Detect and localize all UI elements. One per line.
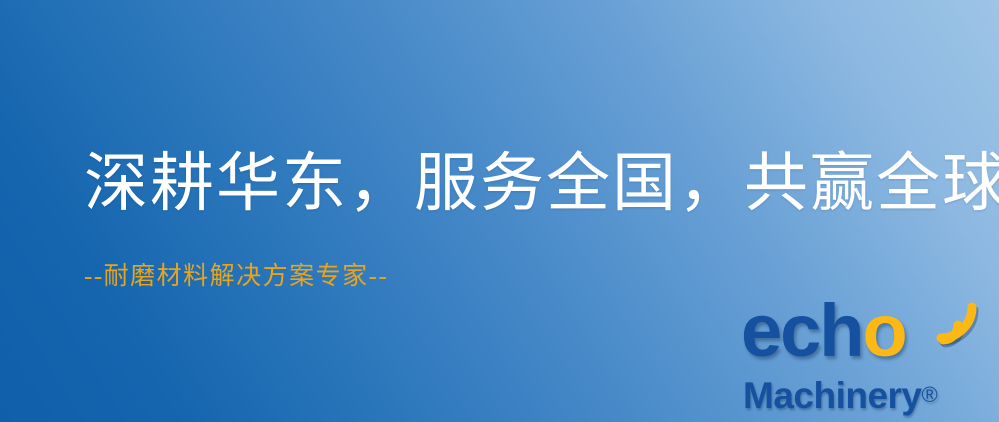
registered-trademark-icon: ®	[922, 382, 938, 407]
logo-subtext-label: Machinery	[743, 375, 922, 416]
banner-subtitle: --耐磨材料解决方案专家--	[84, 220, 944, 292]
logo-wordmark-accent: o	[863, 289, 906, 372]
banner-headline: 深耕华东，服务全国，共赢全球	[84, 148, 944, 220]
logo-wordmark: echo	[741, 292, 991, 370]
logo-subtext: Machinery®	[743, 374, 993, 416]
logo-wordmark-primary: ech	[741, 289, 863, 372]
promo-banner: 深耕华东，服务全国，共赢全球 --耐磨材料解决方案专家-- echo Machi…	[0, 0, 999, 422]
banner-text-block: 深耕华东，服务全国，共赢全球 --耐磨材料解决方案专家--	[84, 148, 944, 292]
echo-machinery-logo: echo Machinery®	[741, 290, 991, 418]
